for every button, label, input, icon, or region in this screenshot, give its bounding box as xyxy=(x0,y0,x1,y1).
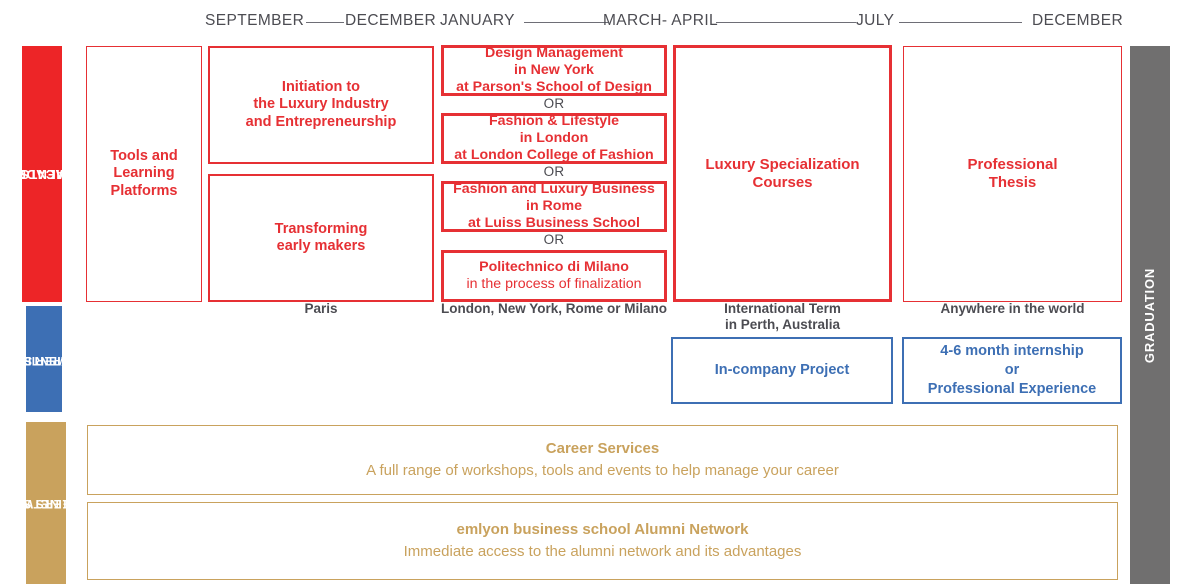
timeline-label-december-1: DECEMBER xyxy=(345,12,436,30)
academic-option-politechnico-di-milano: Politechnico di Milano in the process of… xyxy=(441,250,667,302)
tools-line2: Learning xyxy=(113,165,174,181)
or-separator-2: OR xyxy=(441,164,667,179)
option-0-line3: at Parson's School of Design xyxy=(456,79,652,95)
intl-line1: International Term xyxy=(724,301,841,316)
internship-line2: or xyxy=(1005,362,1020,378)
alumni-title-rest: business school Alumni Network xyxy=(509,521,749,538)
internship-line3: Professional Experience xyxy=(928,381,1096,397)
timeline-label-january: JANUARY xyxy=(440,12,515,30)
academic-box-transforming-early-makers: Transforming early makers xyxy=(208,174,434,302)
location-caption-cities: London, New York, Rome or Milano xyxy=(421,301,687,317)
option-1-line3: at London College of Fashion xyxy=(454,147,653,163)
or-separator-1: OR xyxy=(441,96,667,111)
careers-box-alumni-network: emlyon business school Alumni Network Im… xyxy=(87,502,1118,580)
initiation-line3: and Entrepreneurship xyxy=(246,114,397,130)
timeline-rule-1 xyxy=(306,22,344,23)
option-2-line1: Fashion and Luxury Business xyxy=(453,181,655,197)
band-label-experiential-elements: EXPERIENTIAL ELEMENTS xyxy=(26,306,62,412)
thesis-line2: Thesis xyxy=(989,174,1037,191)
timeline-label-july: JULY xyxy=(856,12,894,30)
option-2-line3: at Luiss Business School xyxy=(468,215,640,231)
specialization-line2: Courses xyxy=(752,174,812,191)
timeline-rule-3 xyxy=(716,22,856,23)
option-0-line1: Design Management xyxy=(485,45,623,61)
option-1-line1: Fashion & Lifestyle xyxy=(489,113,619,129)
academic-box-luxury-specialization-courses: Luxury Specialization Courses xyxy=(673,45,892,302)
careers-box-career-services: Career Services A full range of workshop… xyxy=(87,425,1118,495)
location-caption-paris: Paris xyxy=(208,301,434,317)
option-3-line2: in the process of finalization xyxy=(466,276,641,293)
program-timeline-infographic: SEPTEMBER DECEMBER JANUARY MARCH- APRIL … xyxy=(0,0,1200,586)
academic-box-initiation-luxury-industry: Initiation to the Luxury Industry and En… xyxy=(208,46,434,164)
academic-box-professional-thesis: Professional Thesis xyxy=(903,46,1122,302)
location-caption-anywhere: Anywhere in the world xyxy=(903,301,1122,317)
transforming-line2: early makers xyxy=(277,238,366,254)
in-company-label: In-company Project xyxy=(715,361,850,380)
experiential-box-in-company-project: In-company Project xyxy=(671,337,893,404)
experiential-box-internship: 4-6 month internship or Professional Exp… xyxy=(902,337,1122,404)
band-label-careers-services: CAREERS SERVICES & ALUMNI NETWORK xyxy=(26,422,66,584)
tools-line3: Platforms xyxy=(111,183,178,199)
band-label-graduation: GRADUATION xyxy=(1130,46,1170,584)
graduation-label: GRADUATION xyxy=(1143,267,1158,362)
band-experiential-line2: ELEMENTS xyxy=(11,353,102,366)
academic-option-design-management-new-york: Design Management in New York at Parson'… xyxy=(441,45,667,96)
thesis-line1: Professional xyxy=(967,156,1057,173)
location-caption-international-term: International Term in Perth, Australia xyxy=(673,301,892,334)
initiation-line1: Initiation to xyxy=(282,79,360,95)
option-1-line2: in London xyxy=(520,130,589,146)
initiation-line2: the Luxury Industry xyxy=(253,96,388,112)
alumni-network-title: emlyon business school Alumni Network xyxy=(456,520,748,540)
timeline-rule-2 xyxy=(524,22,608,23)
internship-line1: 4-6 month internship xyxy=(940,343,1083,359)
academic-box-tools-and-learning-platforms: Tools and Learning Platforms xyxy=(86,46,202,302)
timeline-label-september: SEPTEMBER xyxy=(205,12,304,30)
band-label-academic-elements: ACADEMIC ELEMENTS xyxy=(22,46,62,302)
transforming-line1: Transforming xyxy=(275,221,368,237)
option-3-line1: Politechnico di Milano xyxy=(479,259,629,275)
tools-line1: Tools and xyxy=(110,148,177,164)
or-separator-3: OR xyxy=(441,232,667,247)
alumni-network-description: Immediate access to the alumni network a… xyxy=(404,542,802,562)
timeline-label-december-2: DECEMBER xyxy=(1032,12,1123,30)
timeline-header: SEPTEMBER DECEMBER JANUARY MARCH- APRIL … xyxy=(0,0,1200,42)
specialization-line1: Luxury Specialization xyxy=(705,156,859,173)
timeline-label-march-april: MARCH- APRIL xyxy=(603,12,718,30)
career-services-description: A full range of workshops, tools and eve… xyxy=(366,461,839,481)
option-0-line2: in New York xyxy=(514,62,594,78)
band-academic-line2: ELEMENTS xyxy=(20,167,93,181)
academic-option-fashion-luxury-business-rome: Fashion and Luxury Business in Rome at L… xyxy=(441,181,667,232)
intl-line2: in Perth, Australia xyxy=(725,317,840,332)
academic-option-fashion-lifestyle-london: Fashion & Lifestyle in London at London … xyxy=(441,113,667,164)
option-2-line2: in Rome xyxy=(526,198,582,214)
alumni-brand: emlyon xyxy=(456,521,509,538)
career-services-title: Career Services xyxy=(546,439,659,459)
timeline-rule-4 xyxy=(899,22,1022,23)
